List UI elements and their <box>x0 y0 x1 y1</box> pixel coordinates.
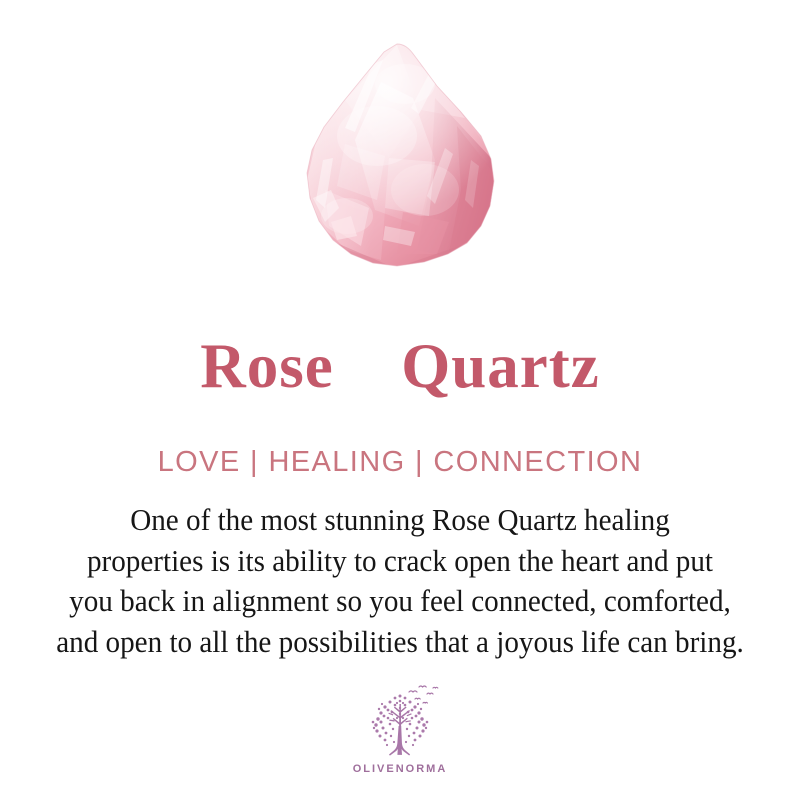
description-line: One of the most stunning Rose Quartz hea… <box>35 500 765 541</box>
birds-icon <box>409 686 438 703</box>
keyword-tagline: LOVE | HEALING | CONNECTION <box>0 445 800 479</box>
rose-quartz-crystal-icon <box>285 40 515 280</box>
description-line: and open to all the possibilities that a… <box>35 622 765 663</box>
description-line: you back in alignment so you feel connec… <box>35 581 765 622</box>
page-title: Rose Quartz <box>0 332 800 400</box>
brand-wordmark: OLIVENORMA <box>0 763 800 775</box>
tree-with-birds-icon <box>357 682 443 762</box>
brand-logo: OLIVENORMA <box>0 682 800 775</box>
product-image-container <box>0 40 800 290</box>
description-paragraph: One of the most stunning Rose Quartz hea… <box>35 500 765 662</box>
description-line: properties is its ability to crack open … <box>35 541 765 582</box>
crystal-body <box>285 40 515 280</box>
product-card: Rose Quartz LOVE | HEALING | CONNECTION … <box>0 0 800 800</box>
